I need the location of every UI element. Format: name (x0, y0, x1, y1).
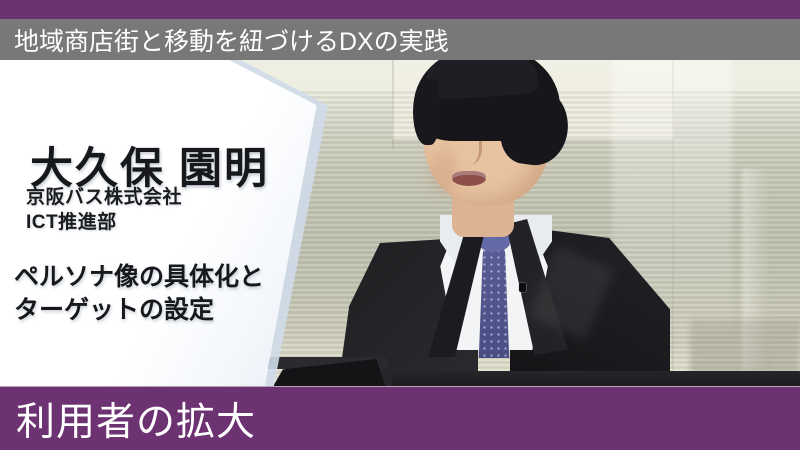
hair-side (413, 79, 439, 145)
top-accent-bar (0, 0, 800, 19)
cheek-shadow (430, 149, 458, 193)
topic-line-1: ペルソナ像の具体化と (14, 261, 264, 294)
speaker-department: ICT推進部 (26, 207, 117, 234)
page-title: 地域商店街と移動を紐づけるDXの実践 (14, 22, 449, 58)
footer-bar: 利用者の拡大 (0, 386, 800, 450)
podium-surface (392, 371, 800, 386)
microphone-clip-icon (519, 283, 526, 292)
topic-line-2: ターゲットの設定 (14, 294, 264, 327)
title-bar: 地域商店街と移動を紐づけるDXの実践 (0, 19, 800, 60)
speaker-caption-content: 大久保 園明 京阪バス株式会社 ICT推進部 ペルソナ像の具体化と ターゲットの… (0, 19, 330, 386)
speaker-company: 京阪バス株式会社 (26, 182, 182, 209)
mouth (452, 171, 486, 186)
topic-text: ペルソナ像の具体化と ターゲットの設定 (14, 261, 264, 327)
footer-caption: 利用者の拡大 (16, 391, 256, 447)
presentation-slide: 大久保 園明 京阪バス株式会社 ICT推進部 ペルソナ像の具体化と ターゲットの… (0, 0, 800, 450)
